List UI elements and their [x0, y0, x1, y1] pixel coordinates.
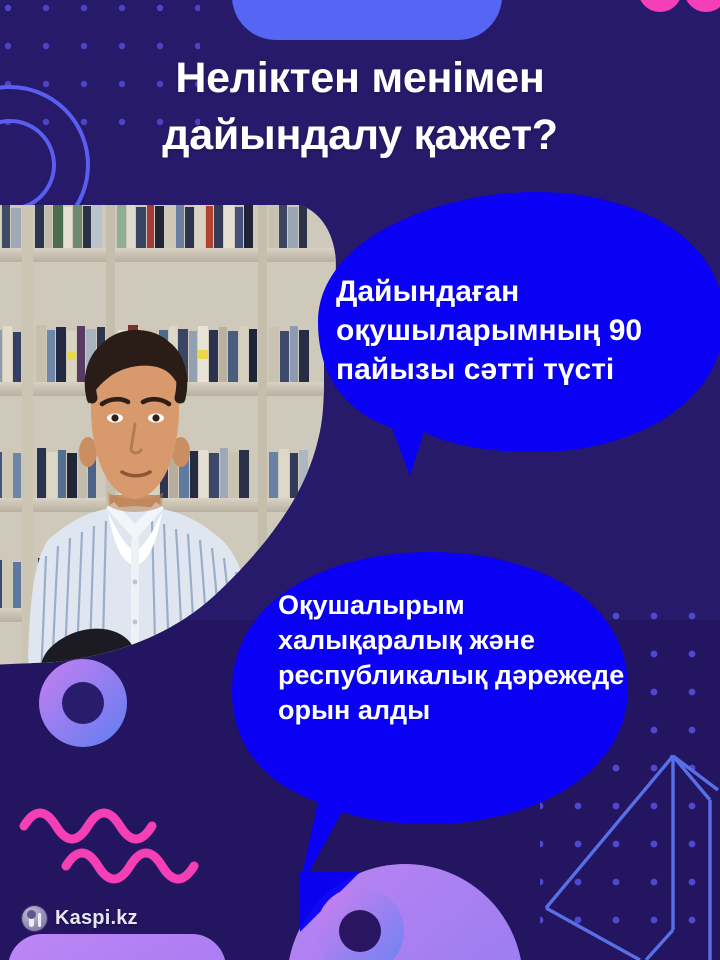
speech-bubble-1-text: Дайындаған оқушыларымның 90 пайызы сәтті…: [336, 272, 711, 389]
title-line-2: дайындалу қажет?: [40, 107, 680, 164]
poster-canvas: Неліктен менімен дайындалу қажет? Дайынд…: [0, 0, 720, 960]
title-line-1: Неліктен менімен: [40, 50, 680, 107]
kaspi-logo-icon: [22, 906, 47, 931]
kaspi-watermark-label: Kaspi.kz: [55, 907, 138, 930]
page-title: Неліктен менімен дайындалу қажет?: [0, 50, 720, 164]
kaspi-watermark: Kaspi.kz: [22, 906, 138, 931]
speech-bubble-2-text: Оқушалырым халықаралық және республикалы…: [278, 588, 628, 728]
